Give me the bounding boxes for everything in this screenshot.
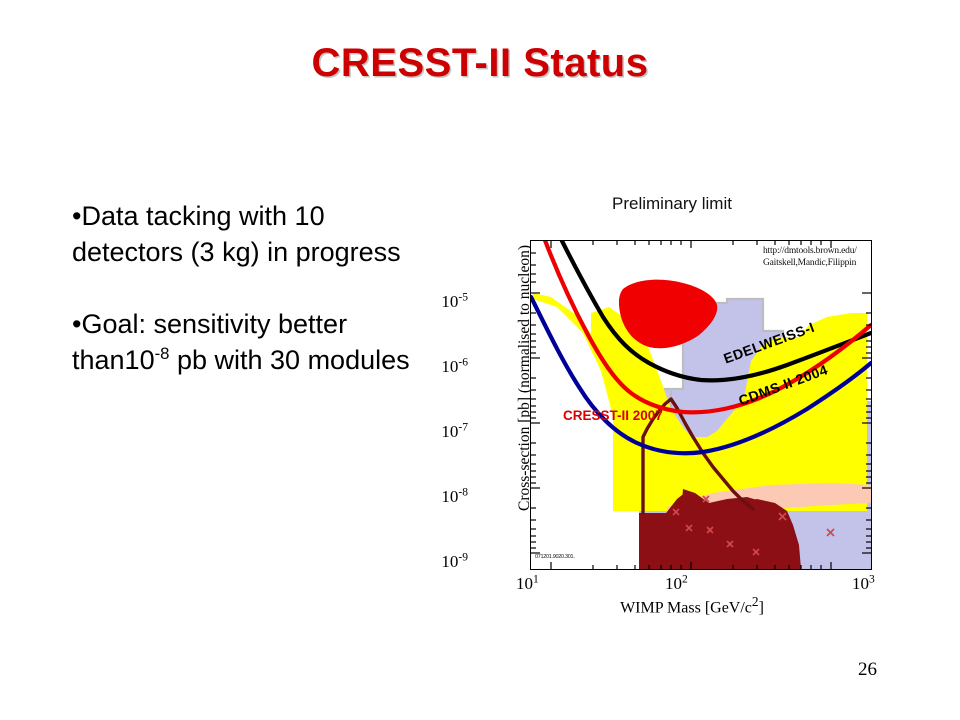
- plot-area: http://dmtools.brown.edu/ Gaitskell,Mand…: [530, 240, 872, 570]
- figure-exclusion-plot: Preliminary limit Cross-section [pb] (no…: [462, 194, 882, 634]
- x-tick-label: 101: [516, 574, 539, 594]
- credit-text: http://dmtools.brown.edu/ Gaitskell,Mand…: [763, 245, 857, 269]
- list-item: •Goal: sensitivity better than10-8 pb wi…: [72, 306, 437, 378]
- y-tick-label: 10-7: [441, 422, 468, 442]
- page-number: 26: [858, 659, 877, 681]
- curve-label-cresst: CRESST-II 2007: [563, 408, 663, 423]
- list-item: •Data tacking with 10 detectors (3 kg) i…: [72, 198, 437, 270]
- page-title: CRESST-II Status: [0, 41, 960, 86]
- x-axis-label: WIMP Mass [GeV/c2]: [502, 594, 882, 617]
- y-tick-label: 10-6: [441, 357, 468, 377]
- exponent: -8: [155, 344, 170, 363]
- y-tick-label: 10-5: [441, 292, 468, 312]
- slide-canvas: CRESST-II Status •Data tacking with 10 d…: [0, 0, 960, 720]
- x-axis-label-text: WIMP Mass [GeV/c: [620, 599, 752, 616]
- bullet-text: Data tacking with 10 detectors (3 kg) in…: [72, 201, 401, 267]
- y-tick-label: 10-9: [441, 552, 468, 572]
- plot-graphics: [531, 241, 871, 569]
- plot-timestamp: 071201.9020.301.: [535, 554, 575, 560]
- y-tick-label: 10-8: [441, 487, 468, 507]
- x-axis-label-tail: ]: [759, 599, 764, 616]
- x-tick-label: 103: [852, 574, 875, 594]
- credit-line-1: http://dmtools.brown.edu/: [763, 245, 857, 257]
- credit-line-2: Gaitskell,Mandic,Filippin: [763, 257, 857, 269]
- bullet-text-after: pb with 30 modules: [169, 345, 409, 375]
- bullet-list: •Data tacking with 10 detectors (3 kg) i…: [72, 198, 437, 378]
- figure-caption: Preliminary limit: [462, 194, 882, 214]
- x-axis-label-sup: 2: [752, 594, 759, 609]
- x-tick-label: 102: [665, 574, 688, 594]
